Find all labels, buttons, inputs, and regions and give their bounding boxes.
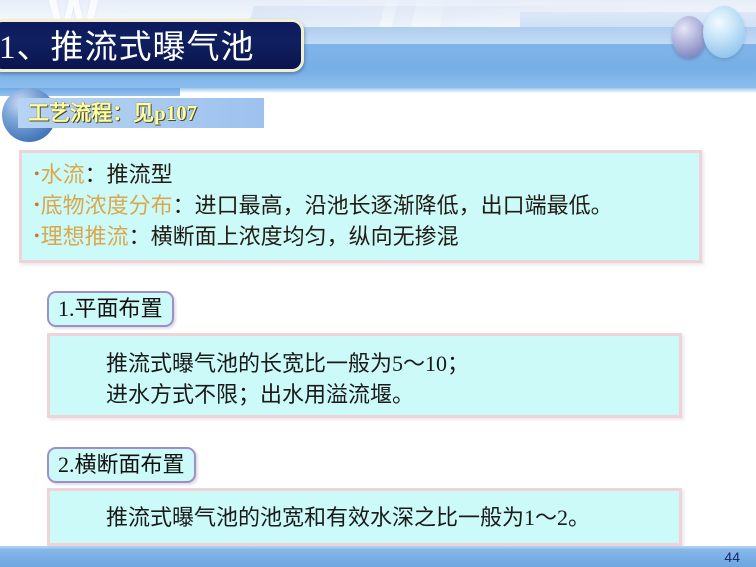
bullet-key: 底物浓度分布: [41, 193, 173, 218]
bullet-key: 理想推流: [41, 224, 129, 249]
page-number: 44: [724, 547, 740, 567]
bullet-text: 推流型: [107, 162, 173, 187]
subtitle-label: 工艺流程：见p107: [28, 98, 197, 128]
bullet-dot-icon: •: [34, 228, 40, 245]
footer-band: [0, 546, 756, 567]
bullet-text: 横断面上浓度均匀，纵向无掺混: [151, 224, 459, 249]
bullet-item: •水流：推流型: [34, 160, 173, 190]
section-body-cross-section-layout: 推流式曝气池的池宽和有效水深之比一般为1～2。: [47, 488, 682, 546]
bullet-item: •底物浓度分布：进口最高，沿池长逐渐降低，出口端最低。: [34, 191, 613, 221]
section-chip-cross-section-layout[interactable]: 2.横断面布置: [47, 447, 196, 483]
bullet-separator: ：: [129, 224, 151, 249]
section-body-plane-layout: 推流式曝气池的长宽比一般为5～10； 进水方式不限；出水用溢流堰。: [47, 333, 682, 418]
bullet-dot-icon: •: [34, 166, 40, 183]
bullet-dot-icon: •: [34, 197, 40, 214]
bullet-separator: ：: [85, 162, 107, 187]
section-chip-plane-layout[interactable]: 1.平面布置: [47, 291, 174, 327]
bullet-text: 进口最高，沿池长逐渐降低，出口端最低。: [195, 193, 613, 218]
footer-band-highlight: [0, 546, 756, 549]
section-body-line: 推流式曝气池的池宽和有效水深之比一般为1～2。: [106, 502, 590, 533]
decorative-sphere-large-icon: [703, 6, 745, 58]
bullet-item: •理想推流：横断面上浓度均匀，纵向无掺混: [34, 222, 459, 252]
slide-title-plate: 1、推流式曝气池: [0, 19, 304, 72]
bullet-separator: ：: [173, 193, 195, 218]
page-title: 1、推流式曝气池: [0, 24, 299, 72]
overview-box: •水流：推流型 •底物浓度分布：进口最高，沿池长逐渐降低，出口端最低。 •理想推…: [19, 150, 702, 263]
bullet-key: 水流: [41, 162, 85, 187]
decorative-sphere-small-icon: [672, 16, 706, 58]
section-body-line: 推流式曝气池的长宽比一般为5～10；: [106, 348, 469, 379]
section-body-line: 进水方式不限；出水用溢流堰。: [106, 379, 414, 410]
slide-canvas: W 1、推流式曝气池 工艺流程：见p107 •水流：推流型 •底物浓度分布：进口…: [0, 0, 756, 567]
